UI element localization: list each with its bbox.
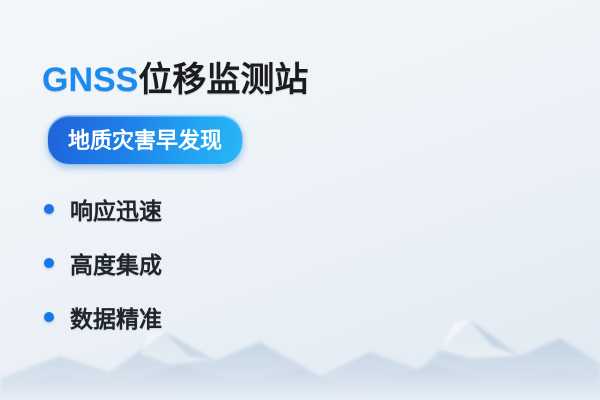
feature-label: 响应迅速 [70, 192, 162, 226]
title-cn: 位移监测站 [138, 61, 308, 99]
list-item: 响应迅速 [44, 182, 162, 236]
list-item: 高度集成 [44, 236, 162, 290]
text-column: GNSS位移监测站 地质灾害早发现 响应迅速 高度集成 数据精准 [0, 0, 340, 400]
bullet-dot-icon [44, 258, 54, 268]
status-badge: 地质灾害早发现 [47, 115, 243, 165]
monitoring-station-illustration: 环境监测站 [330, 0, 600, 400]
feature-list: 响应迅速 高度集成 数据精准 [44, 182, 162, 344]
page-title: GNSS位移监测站 [42, 52, 308, 101]
feature-label: 数据精准 [70, 300, 162, 334]
bullet-dot-icon [44, 312, 54, 322]
product-banner: GNSS位移监测站 地质灾害早发现 响应迅速 高度集成 数据精准 [0, 0, 600, 400]
list-item: 数据精准 [44, 290, 162, 344]
title-en: GNSS [42, 61, 138, 99]
feature-label: 高度集成 [70, 246, 162, 280]
bullet-dot-icon [44, 204, 54, 214]
